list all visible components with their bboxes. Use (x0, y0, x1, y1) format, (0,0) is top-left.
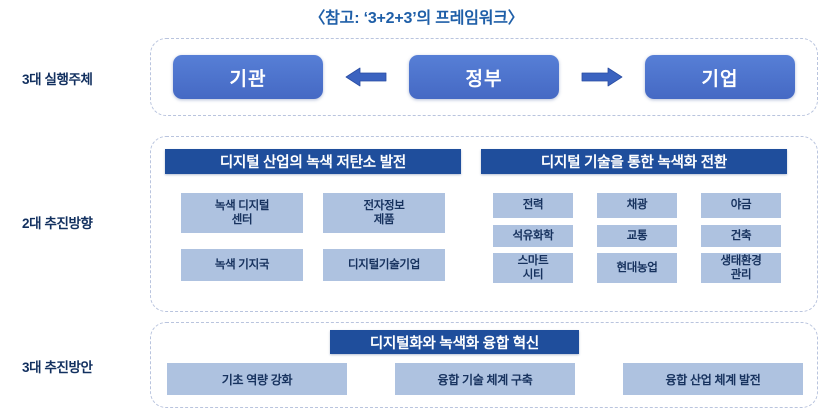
row-actors: 3대 실행주체 기관 정부 기업 (0, 38, 833, 116)
tile-eco-environment-management[interactable]: 생태환경관리 (701, 253, 781, 283)
row-label-actors: 3대 실행주체 (22, 68, 144, 88)
row-measures: 3대 추진방안 디지털화와 녹색화 융합 혁신 기초 역량 강화 융합 기술 체… (0, 322, 833, 408)
actor-box-enterprise[interactable]: 기업 (645, 55, 795, 99)
tile-electronic-info-product[interactable]: 전자정보제품 (323, 193, 445, 233)
measures-header: 디지털화와 녹색화 융합 혁신 (330, 330, 579, 354)
direction-header-1: 디지털 산업의 녹색 저탄소 발전 (165, 149, 461, 174)
tile-green-digital-center[interactable]: 녹색 디지털센터 (181, 193, 303, 233)
panel-actors: 기관 정부 기업 (150, 38, 818, 116)
tile-power[interactable]: 전력 (493, 193, 573, 218)
direction-header-2: 디지털 기술을 통한 녹색화 전환 (481, 149, 787, 174)
panel-measures: 디지털화와 녹색화 융합 혁신 기초 역량 강화 융합 기술 체계 구축 융합 … (150, 322, 818, 408)
tile-smart-city[interactable]: 스마트시티 (493, 253, 573, 283)
tile-transportation[interactable]: 교통 (597, 225, 677, 247)
panel-directions: 디지털 산업의 녹색 저탄소 발전 녹색 디지털센터 전자정보제품 녹색 기지국… (150, 136, 818, 312)
arrow-left-icon (342, 63, 390, 91)
page-title: 〈참고: ‘3+2+3’의 프레임워크〉 (0, 4, 833, 28)
direction-groups: 디지털 산업의 녹색 저탄소 발전 녹색 디지털센터 전자정보제품 녹색 기지국… (151, 137, 817, 311)
row-directions: 2대 추진방향 디지털 산업의 녹색 저탄소 발전 녹색 디지털센터 전자정보제… (0, 136, 833, 312)
actor-strip: 기관 정부 기업 (151, 39, 817, 115)
actor-box-government[interactable]: 정부 (409, 55, 559, 99)
tile-basic-capability[interactable]: 기초 역량 강화 (167, 363, 347, 395)
actor-box-institution[interactable]: 기관 (173, 55, 323, 99)
tile-modern-agriculture[interactable]: 현대농업 (597, 253, 677, 283)
arrow-right-icon (578, 63, 626, 91)
tile-convergence-industry-system[interactable]: 융합 산업 체계 발전 (623, 363, 803, 395)
tile-metallurgy[interactable]: 야금 (701, 193, 781, 218)
row-label-directions: 2대 추진방향 (22, 212, 144, 232)
tile-green-base-station[interactable]: 녹색 기지국 (181, 249, 303, 281)
tile-construction[interactable]: 건축 (701, 225, 781, 247)
row-label-measures: 3대 추진방안 (22, 356, 144, 376)
tile-digital-tech-company[interactable]: 디지털기술기업 (323, 249, 445, 281)
tile-petrochemical[interactable]: 석유화학 (493, 225, 573, 247)
measures-tiles: 기초 역량 강화 융합 기술 체계 구축 융합 산업 체계 발전 (167, 363, 803, 395)
tile-mining[interactable]: 채광 (597, 193, 677, 218)
tile-convergence-tech-system[interactable]: 융합 기술 체계 구축 (395, 363, 575, 395)
